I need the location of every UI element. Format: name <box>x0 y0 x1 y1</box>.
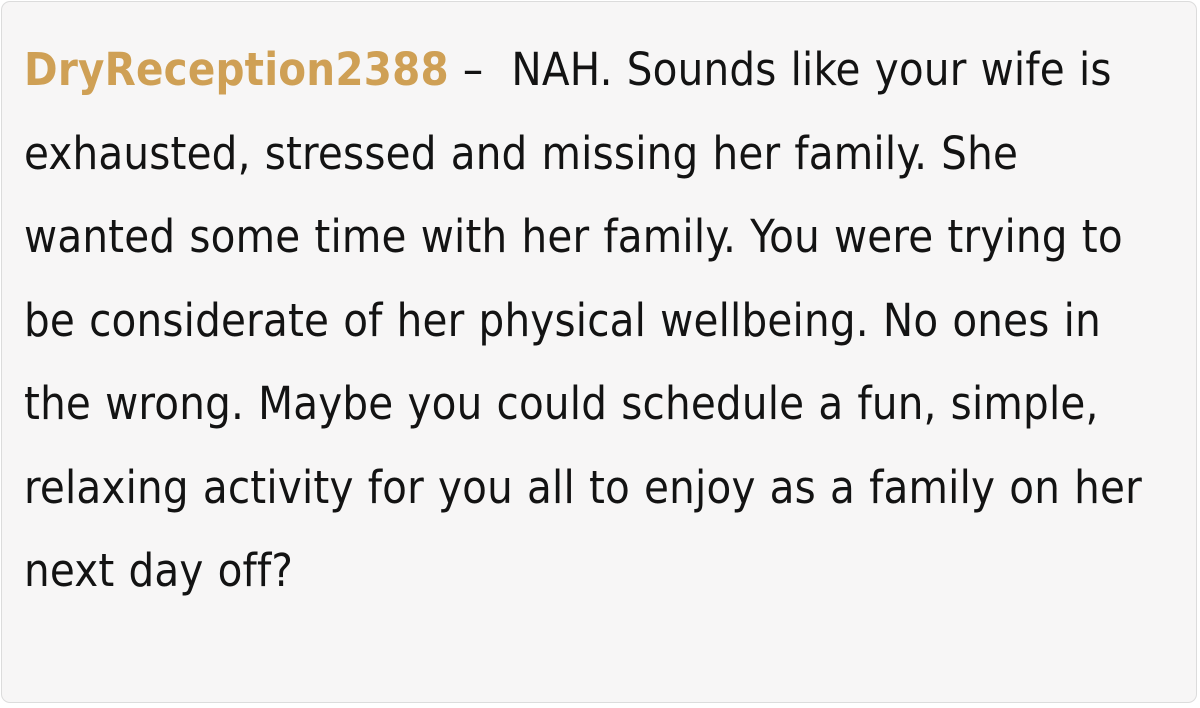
comment-card: DryReception2388 – NAH. Sounds like your… <box>1 1 1197 703</box>
comment-body: DryReception2388 – NAH. Sounds like your… <box>2 2 1196 633</box>
comment-paragraph: DryReception2388 – NAH. Sounds like your… <box>24 28 1172 613</box>
author-text-separator: – <box>449 43 512 96</box>
comment-author[interactable]: DryReception2388 <box>24 43 449 96</box>
comment-text: NAH. Sounds like your wife is exhausted,… <box>24 43 1142 597</box>
